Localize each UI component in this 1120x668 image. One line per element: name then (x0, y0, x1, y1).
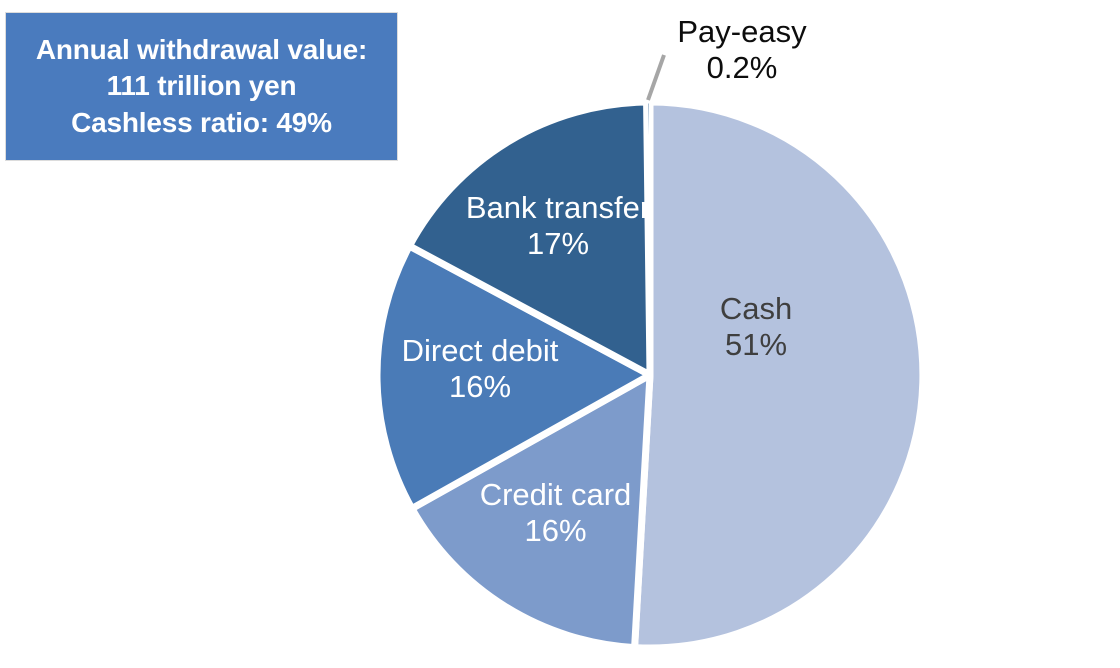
slice-label-cash-name: Cash (676, 291, 836, 327)
slice-label-credit-card: Credit card 16% (458, 477, 653, 549)
annual-withdrawal-callout: Annual withdrawal value: 111 trillion ye… (5, 12, 398, 161)
callout-line-1: Annual withdrawal value: (36, 33, 367, 67)
slice-label-direct-debit-name: Direct debit (380, 333, 580, 369)
callout-line-2: 111 trillion yen (107, 69, 297, 103)
slice-label-bank-transfer: Bank transfer 17% (450, 190, 666, 262)
pie-slice-cash[interactable] (635, 102, 923, 648)
slice-label-pay-easy-value: 0.2% (654, 50, 830, 86)
slice-label-cash: Cash 51% (676, 291, 836, 363)
slice-label-credit-card-value: 16% (458, 513, 653, 549)
chart-canvas: Annual withdrawal value: 111 trillion ye… (0, 0, 1120, 668)
slice-label-direct-debit: Direct debit 16% (380, 333, 580, 405)
slice-label-bank-transfer-value: 17% (450, 226, 666, 262)
slice-label-cash-value: 51% (676, 327, 836, 363)
slice-label-pay-easy: Pay-easy 0.2% (654, 14, 830, 86)
slice-label-bank-transfer-name: Bank transfer (450, 190, 666, 226)
slice-label-credit-card-name: Credit card (458, 477, 653, 513)
slice-label-pay-easy-name: Pay-easy (654, 14, 830, 50)
callout-line-3: Cashless ratio: 49% (71, 106, 332, 140)
slice-label-direct-debit-value: 16% (380, 369, 580, 405)
